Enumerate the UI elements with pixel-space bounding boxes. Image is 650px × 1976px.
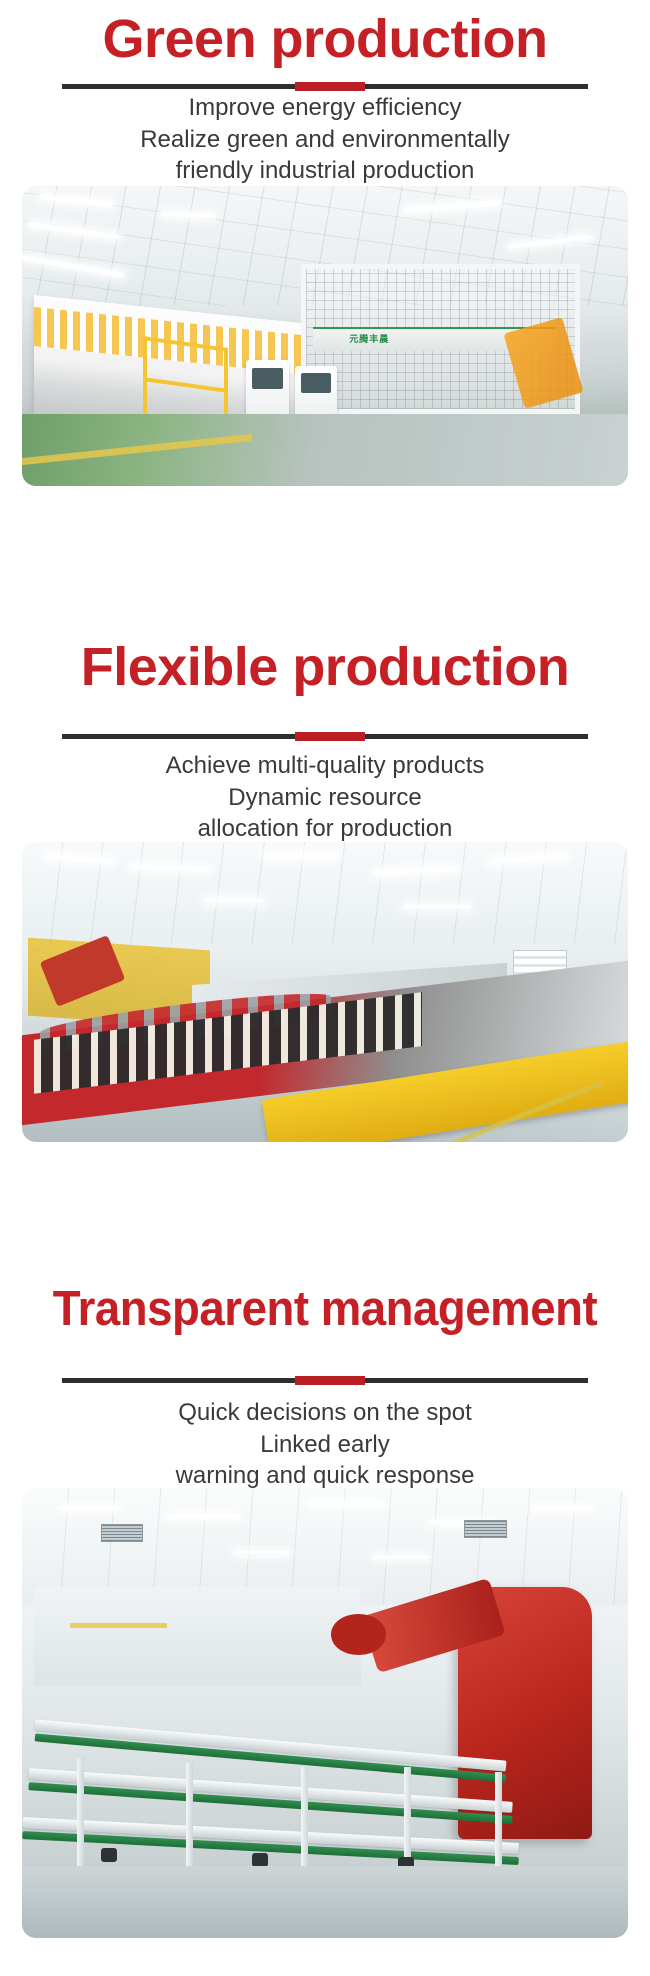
body-line: Quick decisions on the spot [0, 1397, 650, 1429]
body-line: Achieve multi-quality products [0, 750, 650, 782]
ceiling-lamp-icon [531, 1506, 592, 1510]
yellow-rail [70, 1623, 167, 1628]
divider-flexible-production [62, 734, 588, 739]
section-body-transparent-management: Quick decisions on the spot Linked early… [0, 1397, 650, 1492]
section-body-green-production: Improve energy efficiency Realize green … [0, 92, 650, 187]
divider-red-segment [295, 1376, 365, 1385]
ceiling-lamp-icon [204, 899, 265, 902]
belt-drive-motor [252, 1853, 268, 1867]
body-line: Realize green and environmentally [0, 124, 650, 156]
body-line: Dynamic resource [0, 782, 650, 814]
ceiling-vent [464, 1520, 506, 1538]
background-wall [34, 1587, 361, 1686]
divider-red-segment [295, 82, 365, 91]
product-feature-page: Green production Improve energy efficien… [0, 0, 650, 1976]
section-heading-flexible-production: Flexible production [0, 640, 650, 694]
factory-floor [22, 1866, 628, 1938]
divider-transparent-management [62, 1378, 588, 1383]
ceiling-lamp-icon [167, 1515, 240, 1519]
section-heading-transparent-management: Transparent management [23, 1285, 628, 1334]
section-body-flexible-production: Achieve multi-quality products Dynamic r… [0, 750, 650, 845]
section-flexible-production: Flexible production Achieve multi-qualit… [0, 640, 650, 1030]
divider-red-segment [295, 732, 365, 741]
ceiling-vent [101, 1524, 143, 1542]
body-line: Linked early [0, 1429, 650, 1461]
green-production-photo: 元腾丰晨 [22, 186, 628, 486]
ceiling-lamp-icon [373, 1556, 428, 1559]
section-heading-green-production: Green production [0, 12, 650, 66]
flexible-production-photo [22, 842, 628, 1142]
ceiling-lamp-icon [234, 1551, 289, 1554]
transparent-management-photo [22, 1488, 628, 1938]
body-line: friendly industrial production [0, 155, 650, 187]
panel-screen [252, 368, 283, 389]
ceiling-lamp-icon [264, 854, 337, 858]
ceiling-lamp-icon [58, 1506, 119, 1510]
section-green-production: Green production Improve energy efficien… [0, 0, 650, 500]
factory-logo-text: 元腾丰晨 [349, 332, 389, 345]
body-line: Improve energy efficiency [0, 92, 650, 124]
section-transparent-management: Transparent management Quick decisions o… [0, 1255, 650, 1955]
body-line: allocation for production [0, 813, 650, 845]
ceiling-lamp-icon [307, 1502, 386, 1506]
divider-green-production [62, 84, 588, 89]
red-robot-joint [331, 1614, 386, 1655]
belt-drive-motor [101, 1848, 117, 1862]
ceiling-lamp-icon [404, 905, 471, 908]
panel-screen [301, 373, 332, 393]
